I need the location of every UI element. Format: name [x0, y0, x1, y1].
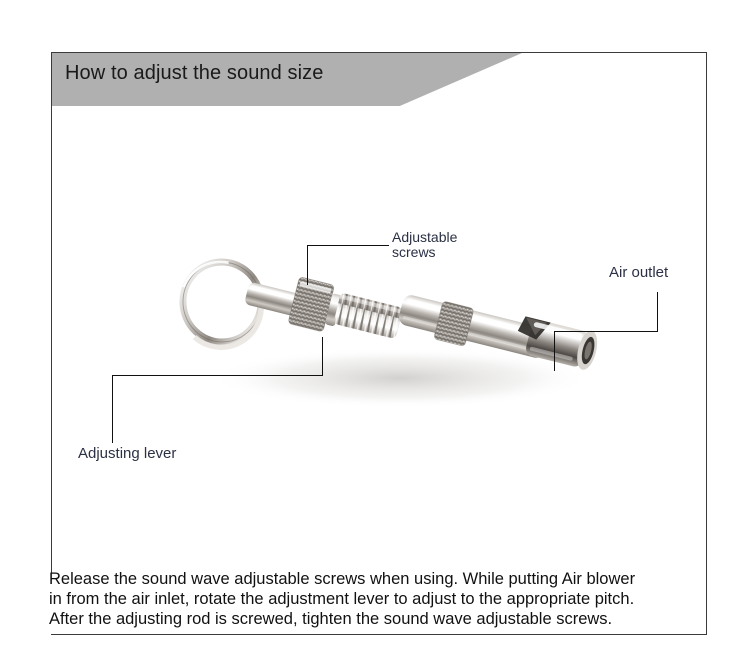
- threaded-adjusting-lever: [333, 292, 403, 339]
- frame-top-border: [51, 52, 707, 53]
- leader-line-adjusting-lever: [322, 337, 323, 376]
- leader-line-adjusting-lever: [112, 375, 113, 443]
- leader-line-air-outlet: [657, 292, 658, 332]
- leader-line-adjustable-screws: [307, 245, 308, 285]
- instruction-paragraph: Release the sound wave adjustable screws…: [49, 569, 749, 629]
- frame-bottom-border: [51, 634, 707, 635]
- frame-left-border: [51, 52, 52, 573]
- leader-line-air-outlet: [554, 331, 658, 332]
- callout-label-adjustable-screws: Adjustable screws: [392, 230, 457, 260]
- instruction-graphic: How to adjust the sound size: [0, 0, 750, 649]
- frame-right-border: [706, 52, 707, 635]
- page-title: How to adjust the sound size: [65, 62, 324, 85]
- product-photo: [160, 230, 610, 440]
- callout-label-adjusting-lever: Adjusting lever: [78, 446, 176, 461]
- knurled-adjustable-screw: [288, 277, 344, 335]
- leader-line-adjusting-lever: [112, 375, 323, 376]
- leader-line-air-outlet: [554, 331, 555, 371]
- leader-line-adjustable-screws: [307, 245, 389, 246]
- callout-label-air-outlet: Air outlet: [609, 265, 668, 280]
